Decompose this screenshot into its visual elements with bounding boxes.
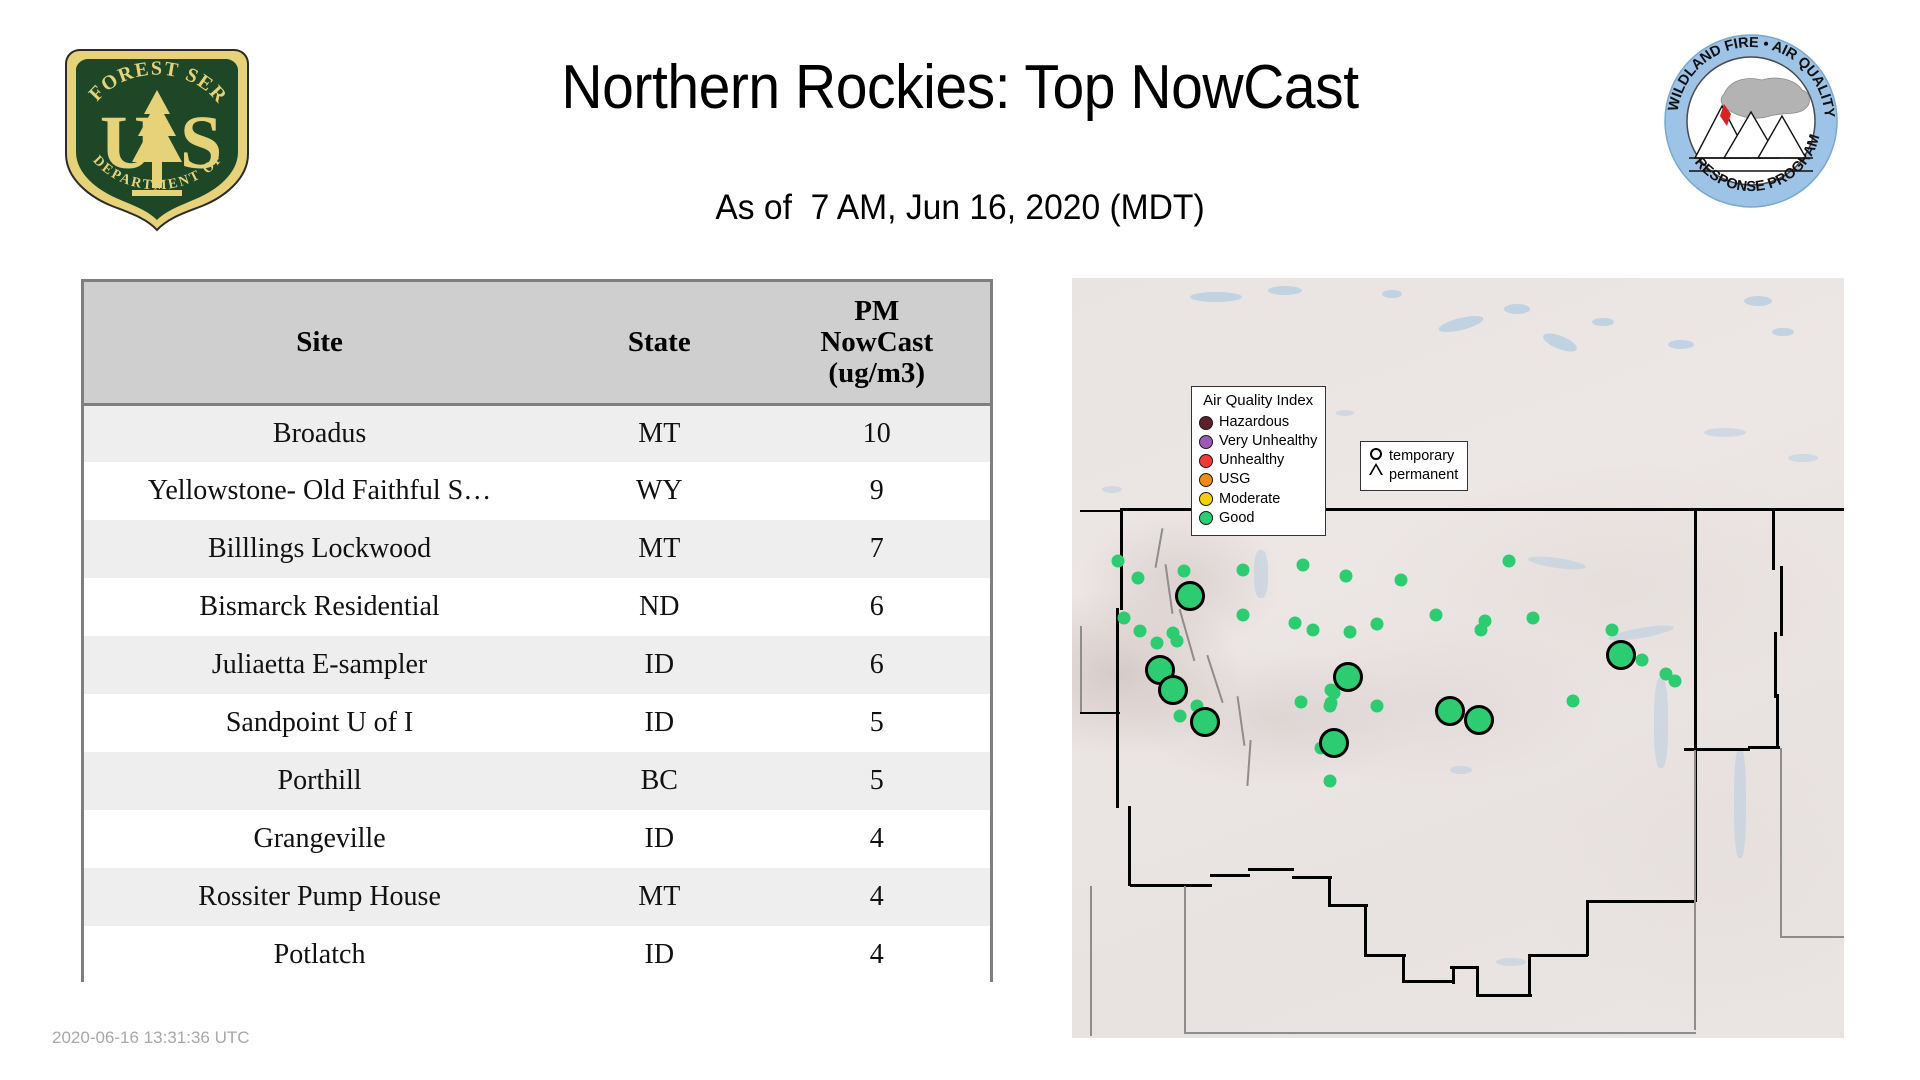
international-border bbox=[1080, 510, 1122, 512]
cell-pm-nowcast: 4 bbox=[763, 810, 990, 868]
table-row: PotlatchID4 bbox=[84, 926, 990, 984]
cell-pm-nowcast: 7 bbox=[763, 520, 990, 578]
monitor-type-legend: temporary permanent bbox=[1360, 441, 1468, 491]
monitor-dot[interactable] bbox=[1167, 627, 1180, 640]
table-body: BroadusMT10Yellowstone- Old Faithful S…W… bbox=[84, 404, 990, 984]
state-border-montana-south bbox=[1528, 954, 1531, 996]
state-border-montana-south bbox=[1364, 904, 1367, 956]
table-row: Juliaetta E-samplerID6 bbox=[84, 636, 990, 694]
table-header: Site State PM NowCast (ug/m3) bbox=[84, 282, 990, 404]
cell-site: Sandpoint U of I bbox=[84, 694, 555, 752]
state-border-north-dakota-east bbox=[1772, 510, 1775, 570]
monitor-dot-highlighted[interactable] bbox=[1333, 662, 1363, 692]
table-row: Billlings LockwoodMT7 bbox=[84, 520, 990, 578]
monitor-dot[interactable] bbox=[1567, 695, 1580, 708]
water-body bbox=[1102, 486, 1122, 493]
monitor-dot[interactable] bbox=[1636, 654, 1649, 667]
water-body bbox=[1654, 678, 1668, 768]
page-title: Northern Rockies: Top NowCast bbox=[77, 52, 1843, 123]
aqi-legend-label: Good bbox=[1219, 509, 1254, 528]
aqi-legend-label: USG bbox=[1219, 470, 1250, 489]
water-body bbox=[1772, 328, 1794, 336]
state-border-idaho bbox=[1116, 608, 1119, 720]
table-row: GrangevilleID4 bbox=[84, 810, 990, 868]
water-body bbox=[1744, 296, 1772, 306]
monitor-dot[interactable] bbox=[1178, 565, 1191, 578]
monitor-location-map[interactable]: Air Quality Index HazardousVery Unhealth… bbox=[1072, 278, 1844, 1038]
monitor-dot[interactable] bbox=[1112, 555, 1125, 568]
aqi-legend-label: Very Unhealthy bbox=[1219, 432, 1317, 451]
cell-site: Rossiter Pump House bbox=[84, 868, 555, 926]
cell-site: Grangeville bbox=[84, 810, 555, 868]
state-border-oregon bbox=[1080, 626, 1082, 712]
monitor-dot[interactable] bbox=[1132, 572, 1145, 585]
cell-state: ID bbox=[555, 694, 763, 752]
water-body bbox=[1668, 340, 1694, 349]
table-header-row: Site State PM NowCast (ug/m3) bbox=[84, 282, 990, 404]
water-body bbox=[1190, 292, 1242, 302]
cell-state: MT bbox=[555, 404, 763, 462]
state-border-montana-south bbox=[1292, 876, 1332, 879]
monitor-dot[interactable] bbox=[1151, 637, 1164, 650]
aqi-legend-color-swatch bbox=[1199, 416, 1213, 430]
table-row: Yellowstone- Old Faithful S…WY9 bbox=[84, 462, 990, 520]
aqi-legend-item: Unhealthy bbox=[1199, 451, 1317, 470]
cell-pm-nowcast: 5 bbox=[763, 694, 990, 752]
monitor-dot[interactable] bbox=[1118, 612, 1131, 625]
monitor-dot-highlighted[interactable] bbox=[1158, 675, 1188, 705]
aqi-legend-item: USG bbox=[1199, 470, 1317, 489]
state-border-south-dakota bbox=[1780, 936, 1844, 938]
table-row: BroadusMT10 bbox=[84, 404, 990, 462]
top-nowcast-table-container: Site State PM NowCast (ug/m3) BroadusMT1… bbox=[81, 279, 993, 982]
cell-pm-nowcast: 4 bbox=[763, 868, 990, 926]
state-border-montana-south bbox=[1364, 954, 1406, 957]
column-header-pm-line-3: (ug/m3) bbox=[763, 358, 990, 389]
state-border-idaho bbox=[1130, 884, 1186, 887]
cell-pm-nowcast: 5 bbox=[763, 752, 990, 810]
cell-state: ND bbox=[555, 578, 763, 636]
water-body bbox=[1788, 454, 1818, 462]
table-row: Rossiter Pump HouseMT4 bbox=[84, 868, 990, 926]
state-border-north-dakota-east bbox=[1748, 746, 1780, 749]
column-header-site: Site bbox=[84, 282, 555, 404]
state-border-montana-south bbox=[1328, 904, 1368, 907]
column-header-pm-line-2: NowCast bbox=[763, 327, 990, 358]
state-border-montana-south bbox=[1476, 966, 1479, 996]
state-border-montana-south bbox=[1248, 868, 1294, 871]
monitor-dot[interactable] bbox=[1289, 617, 1302, 630]
international-border bbox=[1770, 508, 1844, 511]
state-border-montana-south bbox=[1528, 954, 1588, 957]
state-border-south-dakota bbox=[1780, 748, 1782, 938]
monitor-dot[interactable] bbox=[1344, 626, 1357, 639]
table-row: Bismarck ResidentialND6 bbox=[84, 578, 990, 636]
aqi-legend-rows: HazardousVery UnhealthyUnhealthyUSGModer… bbox=[1199, 413, 1317, 528]
triangle-outline-icon bbox=[1369, 463, 1383, 475]
state-border-south-dakota bbox=[1184, 1032, 1696, 1034]
monitor-dot-highlighted[interactable] bbox=[1190, 707, 1220, 737]
state-border-montana-south bbox=[1182, 884, 1212, 887]
state-border-idaho-south bbox=[1090, 886, 1092, 1036]
aqi-legend-label: Unhealthy bbox=[1219, 451, 1284, 470]
state-border-montana-south bbox=[1328, 876, 1331, 906]
generated-timestamp: 2020-06-16 13:31:36 UTC bbox=[52, 1028, 250, 1048]
water-body bbox=[1336, 410, 1354, 416]
aqi-legend-color-swatch bbox=[1199, 492, 1213, 506]
aqi-legend-item: Moderate bbox=[1199, 490, 1317, 509]
monitor-dot[interactable] bbox=[1174, 710, 1187, 723]
monitor-type-permanent-label: permanent bbox=[1389, 466, 1458, 485]
aqi-legend-item: Good bbox=[1199, 509, 1317, 528]
table-row: PorthillBC5 bbox=[84, 752, 990, 810]
nowcast-report-page: FOREST SERVICE DEPARTMENT OF AGRICULTURE… bbox=[0, 0, 1920, 1080]
water-body bbox=[1382, 290, 1402, 298]
aqi-legend-color-swatch bbox=[1199, 511, 1213, 525]
cell-state: MT bbox=[555, 520, 763, 578]
monitor-dot-highlighted[interactable] bbox=[1464, 705, 1494, 735]
state-border-north-dakota-east bbox=[1774, 632, 1777, 698]
state-border-montana-south bbox=[1450, 966, 1478, 969]
monitor-dot[interactable] bbox=[1395, 574, 1408, 587]
aqi-legend-color-swatch bbox=[1199, 435, 1213, 449]
cell-site: Billlings Lockwood bbox=[84, 520, 555, 578]
monitor-dot[interactable] bbox=[1297, 559, 1310, 572]
cell-state: ID bbox=[555, 926, 763, 984]
page-subtitle: As of 7 AM, Jun 16, 2020 (MDT) bbox=[38, 188, 1881, 228]
monitor-type-temporary-label: temporary bbox=[1389, 447, 1458, 466]
monitor-dot[interactable] bbox=[1606, 624, 1619, 637]
column-header-pm-nowcast: PM NowCast (ug/m3) bbox=[763, 282, 990, 404]
cell-site: Potlatch bbox=[84, 926, 555, 984]
monitor-dot[interactable] bbox=[1324, 775, 1337, 788]
monitor-dot[interactable] bbox=[1371, 618, 1384, 631]
monitor-dot[interactable] bbox=[1475, 624, 1488, 637]
monitor-dot[interactable] bbox=[1503, 555, 1516, 568]
water-body bbox=[1704, 428, 1746, 437]
state-border-idaho bbox=[1080, 712, 1120, 714]
aqi-legend-item: Very Unhealthy bbox=[1199, 432, 1317, 451]
state-border-montana-south bbox=[1402, 954, 1405, 982]
monitor-dot[interactable] bbox=[1237, 609, 1250, 622]
monitor-dot-highlighted[interactable] bbox=[1175, 581, 1205, 611]
state-border-idaho bbox=[1128, 806, 1131, 886]
monitor-dot-highlighted[interactable] bbox=[1606, 640, 1636, 670]
cell-pm-nowcast: 6 bbox=[763, 636, 990, 694]
monitor-dot[interactable] bbox=[1307, 624, 1320, 637]
column-header-state: State bbox=[555, 282, 763, 404]
column-header-pm-line-1: PM bbox=[763, 296, 990, 327]
monitor-type-labels: temporary permanent bbox=[1389, 447, 1458, 484]
air-quality-index-legend: Air Quality Index HazardousVery Unhealth… bbox=[1191, 386, 1326, 536]
monitor-dot[interactable] bbox=[1430, 609, 1443, 622]
state-border-montana-south bbox=[1210, 874, 1250, 877]
map-terrain-basemap bbox=[1072, 278, 1844, 1038]
cell-state: MT bbox=[555, 868, 763, 926]
cell-state: WY bbox=[555, 462, 763, 520]
monitor-dot[interactable] bbox=[1134, 625, 1147, 638]
monitor-dot[interactable] bbox=[1527, 612, 1540, 625]
state-border-montana-south bbox=[1402, 980, 1454, 983]
table-row: Sandpoint U of IID5 bbox=[84, 694, 990, 752]
cell-state: BC bbox=[555, 752, 763, 810]
cell-pm-nowcast: 4 bbox=[763, 926, 990, 984]
cell-site: Porthill bbox=[84, 752, 555, 810]
aqi-legend-color-swatch bbox=[1199, 454, 1213, 468]
aqi-legend-label: Moderate bbox=[1219, 490, 1280, 509]
aqi-legend-color-swatch bbox=[1199, 473, 1213, 487]
cell-state: ID bbox=[555, 636, 763, 694]
monitor-dot[interactable] bbox=[1371, 700, 1384, 713]
cell-site: Bismarck Residential bbox=[84, 578, 555, 636]
state-border-south-dakota bbox=[1184, 886, 1186, 1034]
water-body bbox=[1504, 304, 1530, 314]
monitor-dot-highlighted[interactable] bbox=[1319, 728, 1349, 758]
monitor-dot[interactable] bbox=[1669, 675, 1682, 688]
state-border-montana-south bbox=[1476, 994, 1532, 997]
water-body bbox=[1496, 958, 1526, 966]
aqi-legend-title: Air Quality Index bbox=[1199, 392, 1317, 409]
water-body bbox=[1268, 286, 1302, 295]
cell-site: Juliaetta E-sampler bbox=[84, 636, 555, 694]
water-body bbox=[1450, 766, 1472, 774]
monitor-dot[interactable] bbox=[1340, 570, 1353, 583]
cell-pm-nowcast: 6 bbox=[763, 578, 990, 636]
cell-pm-nowcast: 9 bbox=[763, 462, 990, 520]
state-border-north-dakota-east bbox=[1780, 566, 1783, 636]
aqi-legend-label: Hazardous bbox=[1219, 413, 1289, 432]
cell-pm-nowcast: 10 bbox=[763, 404, 990, 462]
cell-site: Yellowstone- Old Faithful S… bbox=[84, 462, 555, 520]
state-border-idaho bbox=[1116, 718, 1119, 808]
monitor-dot[interactable] bbox=[1237, 564, 1250, 577]
monitor-type-symbols bbox=[1367, 447, 1384, 475]
state-border-montana-south bbox=[1586, 900, 1589, 956]
circle-outline-icon bbox=[1370, 448, 1382, 460]
aqi-legend-item: Hazardous bbox=[1199, 413, 1317, 432]
state-border-north-dakota-east bbox=[1776, 694, 1779, 748]
water-body bbox=[1592, 318, 1614, 326]
water-body bbox=[1734, 748, 1746, 858]
water-body bbox=[1254, 550, 1268, 598]
state-border-south-dakota bbox=[1694, 750, 1696, 1030]
state-border-montana-south bbox=[1586, 900, 1696, 903]
monitor-dot[interactable] bbox=[1295, 696, 1308, 709]
monitor-dot-highlighted[interactable] bbox=[1435, 696, 1465, 726]
cell-state: ID bbox=[555, 810, 763, 868]
cell-site: Broadus bbox=[84, 404, 555, 462]
top-nowcast-table: Site State PM NowCast (ug/m3) BroadusMT1… bbox=[84, 282, 990, 984]
